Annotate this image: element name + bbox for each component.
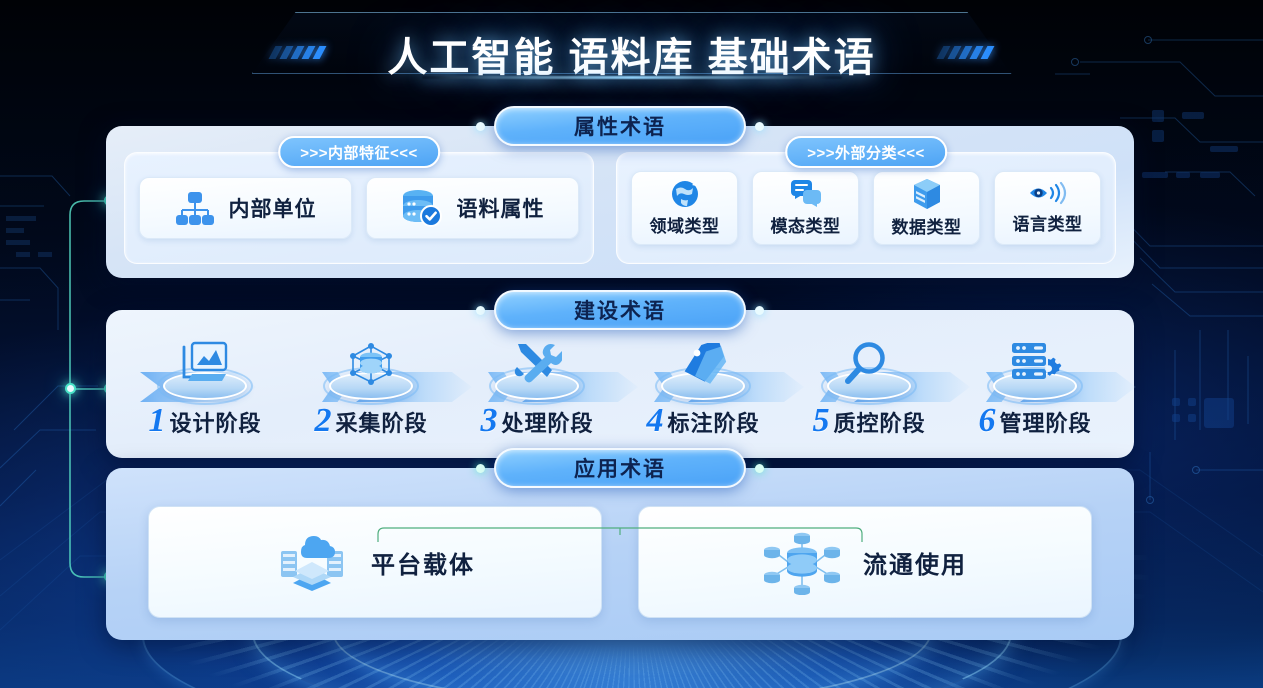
connector-node-hub	[65, 383, 76, 394]
stage-number: 5	[812, 402, 829, 440]
group-external-classification: >>>外部分类<<< 领域类型	[616, 152, 1116, 264]
header-dot-right	[755, 122, 764, 131]
tile-modality-type[interactable]: 模态类型	[752, 171, 859, 245]
stage-label: 4 标注阶段	[646, 402, 759, 448]
stage-name: 标注阶段	[667, 406, 759, 438]
eye-sound-icon	[1029, 181, 1067, 207]
data-cube-icon	[912, 178, 942, 210]
card-circulation-use-label: 流通使用	[863, 545, 967, 580]
section-attribute-header: 属性术语	[476, 106, 764, 146]
stage-processing[interactable]: 3 处理阶段	[454, 332, 620, 448]
globe-icon	[670, 179, 700, 209]
stage-icon-wrap	[491, 334, 583, 400]
stage-annotation[interactable]: 4 标注阶段	[620, 332, 786, 448]
magnifier-icon	[845, 341, 893, 387]
tile-internal-unit-label: 内部单位	[229, 193, 317, 223]
tag-icon	[677, 343, 729, 387]
network-database-icon	[345, 341, 397, 387]
header-dot-right	[755, 306, 764, 315]
stage-name: 设计阶段	[169, 406, 261, 438]
section-application-terms: 应用术语	[106, 468, 1134, 640]
section-application-header: 应用术语	[476, 448, 764, 488]
tile-domain-type-label: 领域类型	[650, 212, 720, 237]
stage-number: 3	[480, 402, 497, 440]
stage-collection[interactable]: 2 采集阶段	[288, 332, 454, 448]
stage-name: 采集阶段	[335, 406, 427, 438]
card-platform-carrier[interactable]: 平台载体	[148, 506, 602, 618]
section-construction-header: 建设术语	[476, 290, 764, 330]
stage-icon-wrap	[657, 334, 749, 400]
stage-label: 5 质控阶段	[812, 402, 925, 448]
stage-label: 2 采集阶段	[314, 402, 427, 448]
stage-icon-wrap	[989, 334, 1081, 400]
stage-number: 4	[646, 402, 663, 440]
tile-corpus-attribute-label: 语料属性	[457, 193, 545, 223]
stage-number: 1	[148, 402, 165, 440]
tile-modality-type-label: 模态类型	[771, 212, 841, 237]
stage-icon-wrap	[159, 334, 251, 400]
stage-design[interactable]: 1 设计阶段	[122, 332, 288, 448]
stage-label: 1 设计阶段	[148, 402, 261, 448]
stage-icon-wrap	[325, 334, 417, 400]
section-attribute-title: 属性术语	[494, 106, 746, 146]
hierarchy-icon	[175, 190, 215, 226]
header-dot-left	[476, 464, 485, 473]
stage-name: 质控阶段	[833, 406, 925, 438]
header-dot-left	[476, 306, 485, 315]
group-internal-features-tag: >>>内部特征<<<	[278, 136, 440, 168]
stage-label: 6 管理阶段	[978, 402, 1091, 448]
stage-number: 2	[314, 402, 331, 440]
stage-quality-control[interactable]: 5 质控阶段	[786, 332, 952, 448]
page-title: 人工智能 语料库 基础术语	[0, 18, 1263, 90]
tile-language-type[interactable]: 语言类型	[994, 171, 1101, 245]
tile-internal-unit[interactable]: 内部单位	[139, 177, 352, 239]
section-attribute-terms: 属性术语 >>>内部特征<<<	[106, 126, 1134, 278]
card-circulation-use[interactable]: 流通使用	[638, 506, 1092, 618]
stage-name: 管理阶段	[999, 406, 1091, 438]
stage-icon-wrap	[823, 334, 915, 400]
data-network-icon	[763, 529, 841, 595]
header-dot-left	[476, 122, 485, 131]
tile-data-type[interactable]: 数据类型	[873, 171, 980, 245]
blueprint-monitor-icon	[180, 341, 230, 387]
tile-corpus-attribute[interactable]: 语料属性	[366, 177, 579, 239]
group-external-classification-tag: >>>外部分类<<<	[785, 136, 947, 168]
tile-language-type-label: 语言类型	[1013, 210, 1083, 235]
tile-data-type-label: 数据类型	[892, 213, 962, 238]
stage-name: 处理阶段	[501, 406, 593, 438]
server-gear-icon	[1008, 341, 1062, 387]
tools-icon	[512, 341, 562, 387]
section-construction-terms: 建设术语	[106, 310, 1134, 458]
card-platform-carrier-label: 平台载体	[371, 545, 475, 580]
title-underline-glow	[422, 76, 842, 79]
group-internal-features: >>>内部特征<<< 内部单位	[124, 152, 594, 264]
tile-domain-type[interactable]: 领域类型	[631, 171, 738, 245]
database-check-icon	[401, 189, 443, 227]
page-title-text: 人工智能 语料库 基础术语	[387, 25, 875, 83]
section-application-title: 应用术语	[494, 448, 746, 488]
header-dot-right	[755, 464, 764, 473]
infographic-canvas: 人工智能 语料库 基础术语 属性术语 >>>内部特征<<<	[0, 0, 1263, 688]
stage-number: 6	[978, 402, 995, 440]
chat-bubble-icon	[790, 179, 822, 209]
cloud-platform-icon	[275, 531, 349, 593]
section-construction-title: 建设术语	[494, 290, 746, 330]
stage-label: 3 处理阶段	[480, 402, 593, 448]
stage-management[interactable]: 6 管理阶段	[952, 332, 1118, 448]
